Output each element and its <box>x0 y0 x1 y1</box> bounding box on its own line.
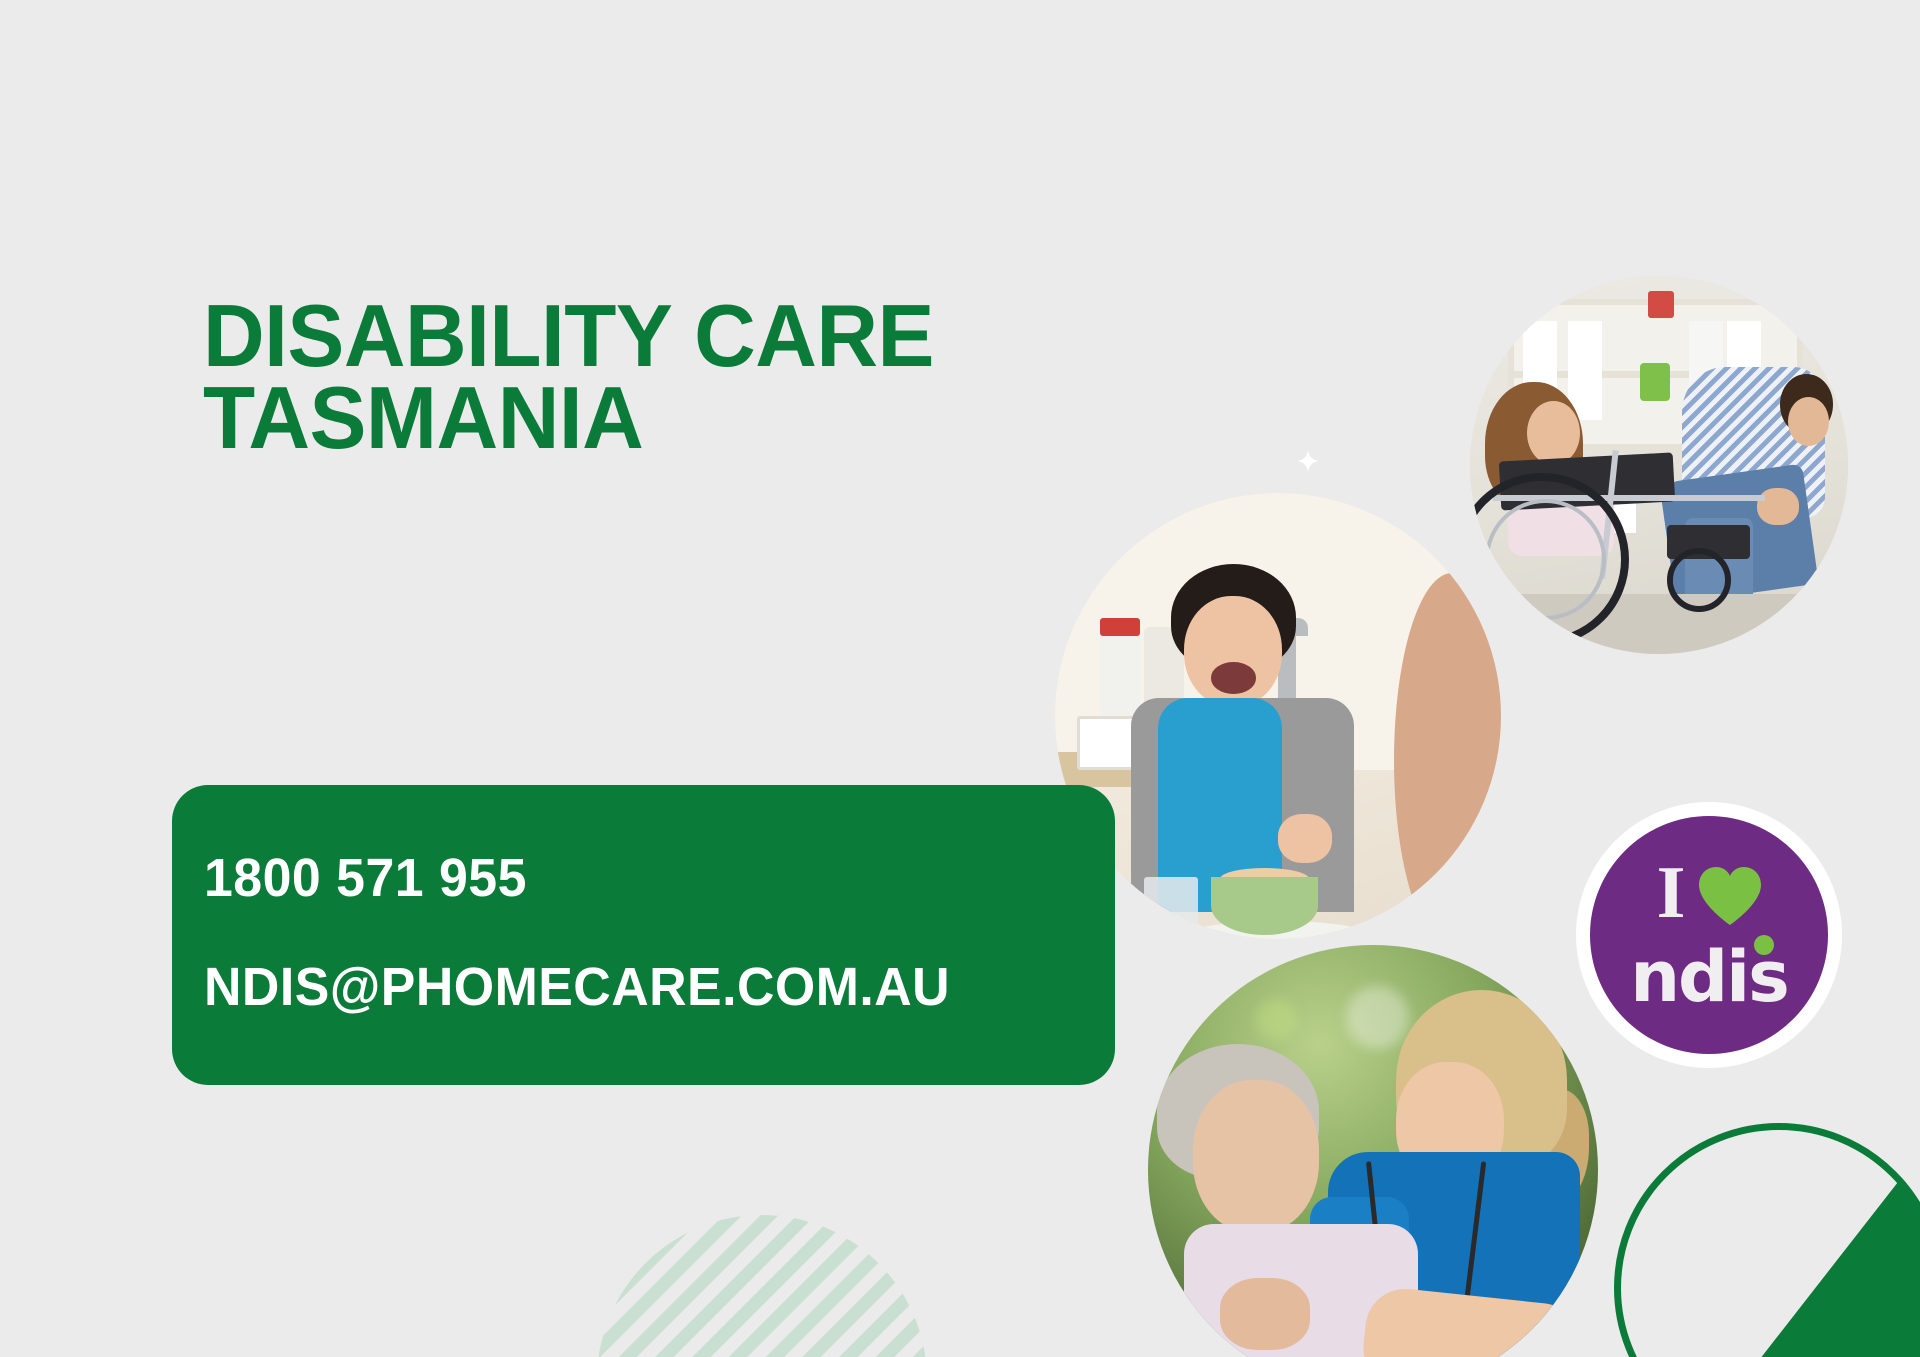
wheelchair-assistance-photo <box>1470 276 1848 654</box>
headline-line-2: TASMANIA <box>203 377 934 459</box>
ndis-logo-dot <box>1754 935 1774 955</box>
ndis-logo: I ndis <box>1576 802 1842 1068</box>
contact-card: 1800 571 955 NDIS@PHOMECARE.COM.AU <box>172 785 1115 1085</box>
kitchen-mealtime-photo <box>1055 493 1501 939</box>
page-title: DISABILITY CARE TASMANIA <box>203 295 934 459</box>
ndis-logo-i-letter: I <box>1657 856 1686 930</box>
email-address[interactable]: NDIS@PHOMECARE.COM.AU <box>204 956 1079 1018</box>
striped-circle <box>597 1215 927 1357</box>
nurse-elderly-photo <box>1148 945 1598 1357</box>
heart-icon <box>1697 866 1763 926</box>
disability-care-banner: DISABILITY CARE TASMANIA 1800 571 955 ND… <box>0 0 1920 1357</box>
phone-number[interactable]: 1800 571 955 <box>204 847 1079 909</box>
ndis-logo-circle: I ndis <box>1590 816 1828 1054</box>
headline-line-1: DISABILITY CARE <box>203 295 934 377</box>
green-ring-accent <box>1614 1123 1920 1357</box>
sparkle-icon <box>1297 450 1319 472</box>
ndis-wordmark: ndis <box>1590 942 1828 1012</box>
